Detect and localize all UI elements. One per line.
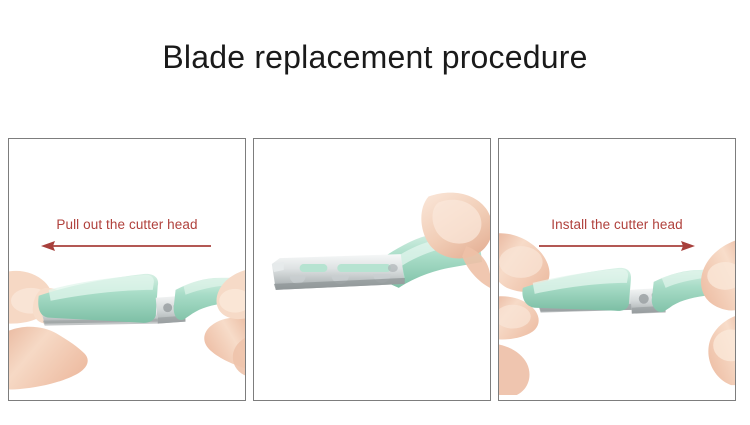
photo-blade-exposed bbox=[254, 139, 490, 400]
panel-blade-exposed bbox=[253, 138, 491, 401]
page-title: Blade replacement procedure bbox=[0, 38, 750, 76]
arrow-left-icon bbox=[9, 239, 245, 253]
panel-caption: Install the cutter head bbox=[499, 217, 735, 232]
panel-pull-out: Pull out the cutter head bbox=[8, 138, 246, 401]
panel-caption: Pull out the cutter head bbox=[9, 217, 245, 232]
instruction-graphic: Blade replacement procedure bbox=[0, 0, 750, 425]
panel-strip: Pull out the cutter head bbox=[8, 138, 736, 401]
photo-install bbox=[499, 139, 735, 400]
arrow-right-icon bbox=[499, 239, 735, 253]
photo-pull-out bbox=[9, 139, 245, 400]
panel-install: Install the cutter head bbox=[498, 138, 736, 401]
metal-blade bbox=[272, 254, 405, 290]
